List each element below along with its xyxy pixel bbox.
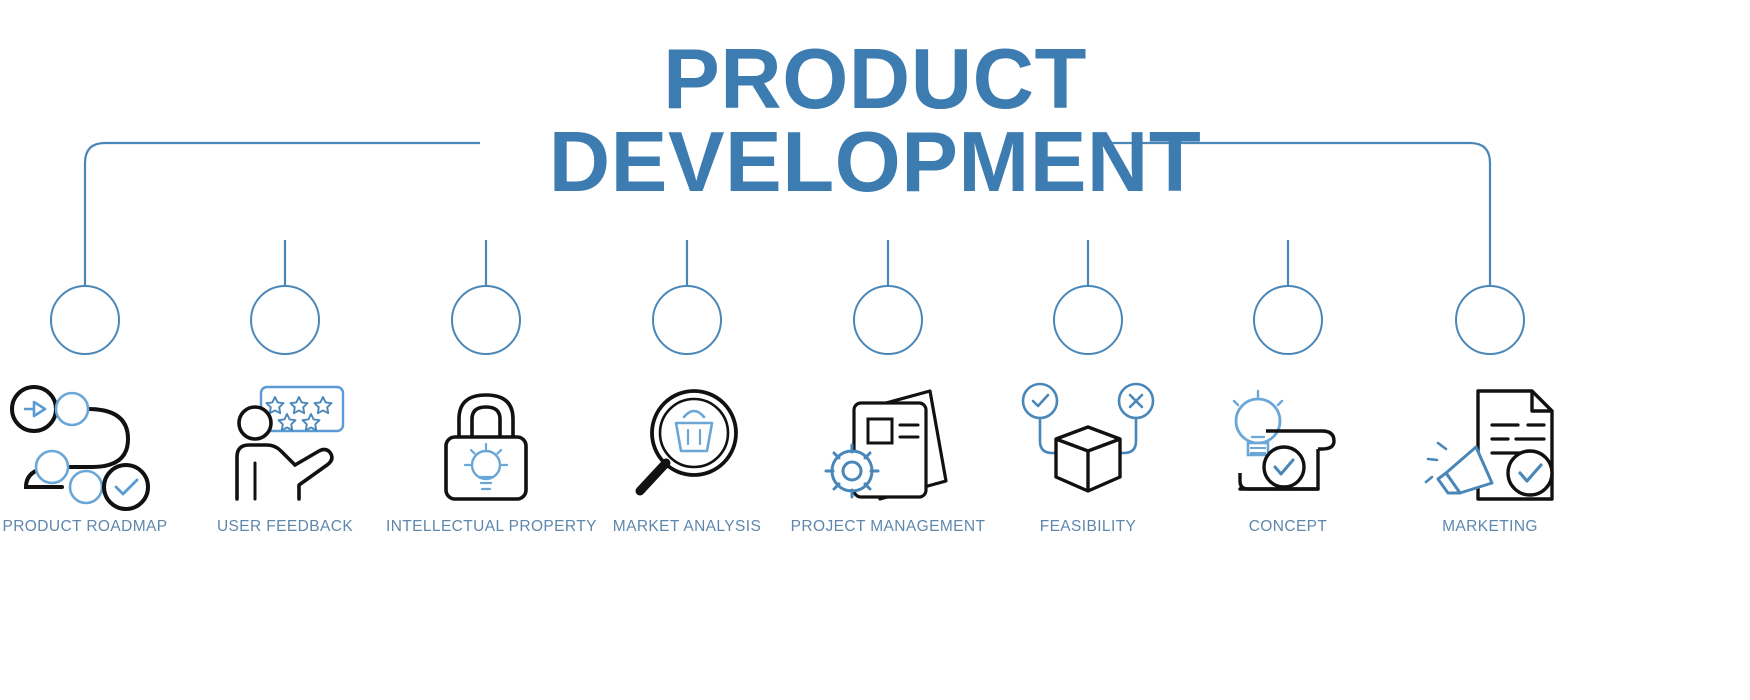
product-development-banner: PRODUCT DEVELOPMENT PRODUCT ROADMAP (0, 0, 1750, 700)
item-intellectual-property[interactable]: INTELLECTUAL PROPERTY (386, 285, 586, 536)
node-circle-feasibility (1053, 285, 1123, 355)
icon-marketing (1390, 377, 1590, 512)
item-feasibility[interactable]: FEASIBILITY (988, 285, 1188, 536)
icon-feasibility (988, 377, 1188, 512)
label-marketing: MARKETING (1390, 518, 1590, 536)
label-intellectual-property: INTELLECTUAL PROPERTY (386, 518, 586, 536)
node-circle-product-roadmap (50, 285, 120, 355)
icon-product-roadmap (0, 377, 185, 512)
item-concept[interactable]: CONCEPT (1188, 285, 1388, 536)
icon-market-analysis (587, 377, 787, 512)
item-marketing[interactable]: MARKETING (1390, 285, 1590, 536)
label-concept: CONCEPT (1188, 518, 1388, 536)
label-market-analysis: MARKET ANALYSIS (587, 518, 787, 536)
label-user-feedback: USER FEEDBACK (185, 518, 385, 536)
icon-intellectual-property (386, 377, 586, 512)
item-product-roadmap[interactable]: PRODUCT ROADMAP (0, 285, 185, 536)
node-circle-project-management (853, 285, 923, 355)
icon-concept (1188, 377, 1388, 512)
node-circle-user-feedback (250, 285, 320, 355)
node-circle-market-analysis (652, 285, 722, 355)
node-circle-marketing (1455, 285, 1525, 355)
label-feasibility: FEASIBILITY (988, 518, 1188, 536)
node-circle-concept (1253, 285, 1323, 355)
icon-user-feedback (185, 377, 385, 512)
item-project-management[interactable]: PROJECT MANAGEMENT (788, 285, 988, 536)
icon-project-management (788, 377, 988, 512)
item-user-feedback[interactable]: USER FEEDBACK (185, 285, 385, 536)
label-project-management: PROJECT MANAGEMENT (788, 518, 988, 536)
item-market-analysis[interactable]: MARKET ANALYSIS (587, 285, 787, 536)
node-circle-intellectual-property (451, 285, 521, 355)
label-product-roadmap: PRODUCT ROADMAP (0, 518, 185, 536)
